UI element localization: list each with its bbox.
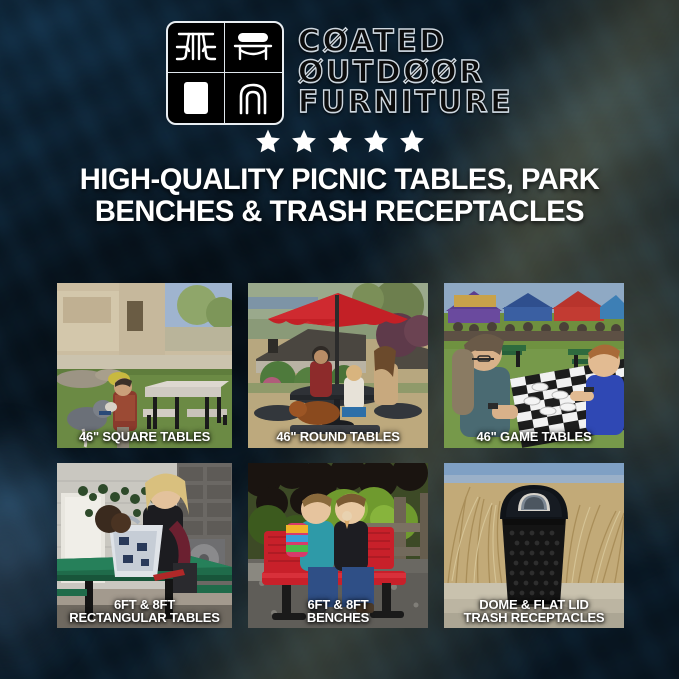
caption-line-1: 46" SQUARE TABLES: [60, 430, 229, 444]
caption-line-2: TRASH RECEPTACLES: [447, 611, 621, 625]
product-tile-rectangular-tables[interactable]: 6FT & 8FT RECTANGULAR TABLES: [57, 463, 232, 628]
round-tables-photo: [248, 283, 428, 448]
tile-caption: 46" GAME TABLES: [444, 430, 624, 444]
wordmark-line-3: FURNITURE: [298, 88, 513, 117]
product-tile-trash-receptacles[interactable]: DOME & FLAT LID TRASH RECEPTACLES: [444, 463, 624, 628]
tile-caption: 6FT & 8FT RECTANGULAR TABLES: [57, 598, 232, 625]
logo-icon-grid: [166, 21, 284, 125]
headline: HIGH-QUALITY PICNIC TABLES, PARK BENCHES…: [10, 164, 669, 228]
star-icon: [363, 128, 389, 154]
tile-caption: 6FT & 8FT BENCHES: [248, 598, 428, 625]
product-tile-round-tables[interactable]: 46" ROUND TABLES: [248, 283, 428, 448]
wordmark-line-1: CØATED: [298, 27, 513, 56]
tile-caption: DOME & FLAT LID TRASH RECEPTACLES: [444, 598, 624, 625]
caption-line-1: 46" GAME TABLES: [447, 430, 621, 444]
game-tables-photo: [444, 283, 624, 448]
caption-line-2: BENCHES: [251, 611, 425, 625]
product-tile-benches[interactable]: 6FT & 8FT BENCHES: [248, 463, 428, 628]
tile-caption: 46" ROUND TABLES: [248, 430, 428, 444]
product-tile-game-tables[interactable]: 46" GAME TABLES: [444, 283, 624, 448]
headline-line-2: BENCHES & TRASH RECEPTACLES: [26, 196, 654, 228]
picnic-table-icon: [168, 23, 225, 73]
trash-receptacle-icon: [168, 73, 225, 123]
star-icon: [255, 128, 281, 154]
brand-logo: CØATED ØUTDØØR FURNITURE: [0, 0, 679, 120]
bench-icon: [225, 23, 282, 73]
brand-wordmark: CØATED ØUTDØØR FURNITURE: [298, 27, 513, 117]
wordmark-line-2: ØUTDØØR: [298, 58, 513, 87]
square-tables-photo: [57, 283, 232, 448]
caption-line-2: RECTANGULAR TABLES: [60, 611, 229, 625]
tile-caption: 46" SQUARE TABLES: [57, 430, 232, 444]
bike-rack-icon: [225, 73, 282, 123]
product-tile-square-tables[interactable]: 46" SQUARE TABLES: [57, 283, 232, 448]
product-grid: 46" SQUARE TABLES: [57, 283, 623, 628]
star-icon: [327, 128, 353, 154]
star-rating: [0, 124, 679, 158]
star-icon: [291, 128, 317, 154]
star-icon: [399, 128, 425, 154]
headline-line-1: HIGH-QUALITY PICNIC TABLES, PARK: [80, 163, 600, 196]
caption-line-1: 46" ROUND TABLES: [251, 430, 425, 444]
